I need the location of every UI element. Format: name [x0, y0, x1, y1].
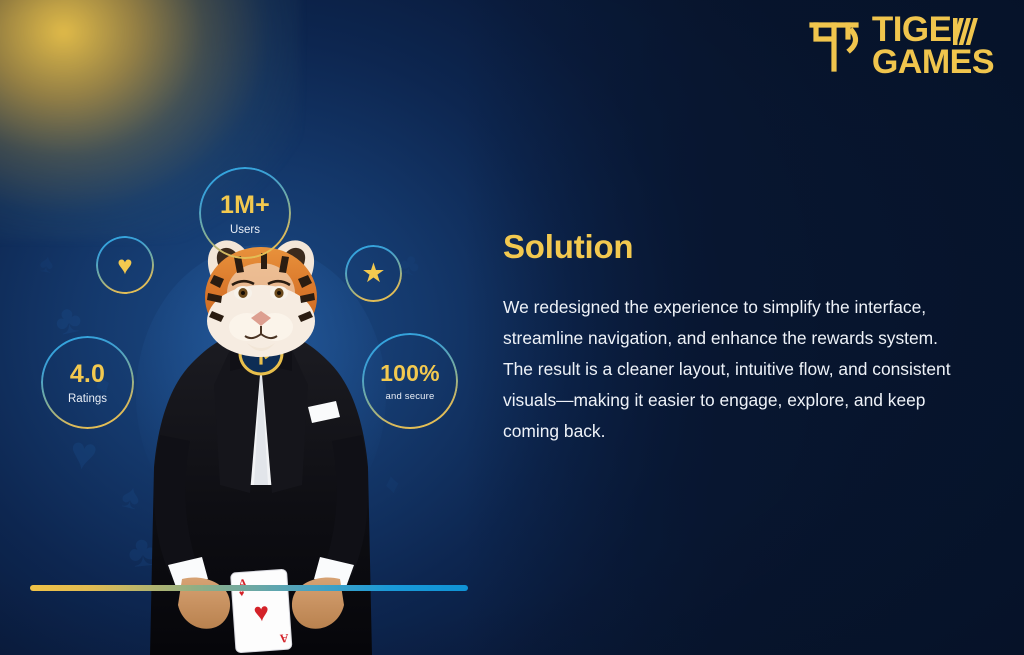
brand-logo[interactable]: TIGE GAMES — [808, 14, 994, 78]
stat-value-users: 1M+ — [220, 191, 270, 220]
star-icon: ★ — [361, 260, 385, 287]
stat-value-ratings: 4.0 — [70, 360, 105, 389]
logo-text-tiger: TIGE — [872, 14, 952, 47]
stat-label-ratings: Ratings — [68, 393, 107, 405]
badge-bubble-star[interactable]: ★ — [345, 245, 402, 302]
stat-label-users: Users — [230, 224, 260, 236]
stat-bubble-secure[interactable]: 100% and secure — [362, 333, 458, 429]
stat-bubble-users[interactable]: 1M+ Users — [199, 167, 291, 259]
stat-label-secure: and secure — [385, 391, 434, 402]
logo-text-games: GAMES — [872, 47, 994, 79]
tiger-t-monogram-icon — [808, 17, 862, 75]
heart-icon: ♥ — [117, 252, 132, 278]
text-content-column: Solution We redesigned the experience to… — [503, 228, 973, 447]
badge-bubble-love[interactable]: ♥ — [96, 236, 154, 294]
stat-bubble-ratings[interactable]: 4.0 Ratings — [41, 336, 134, 429]
stat-value-secure: 100% — [380, 360, 440, 387]
section-heading: Solution — [503, 228, 973, 266]
logo-stylized-r-icon — [953, 16, 979, 47]
logo-wordmark: TIGE GAMES — [872, 14, 994, 78]
slide-canvas: ♣ ♥ ♦ ♠ ♣ ♥ ♠ ♦ ♣ — [0, 0, 1024, 655]
section-paragraph: We redesigned the experience to simplify… — [503, 292, 968, 447]
accent-progress-bar — [30, 585, 468, 591]
